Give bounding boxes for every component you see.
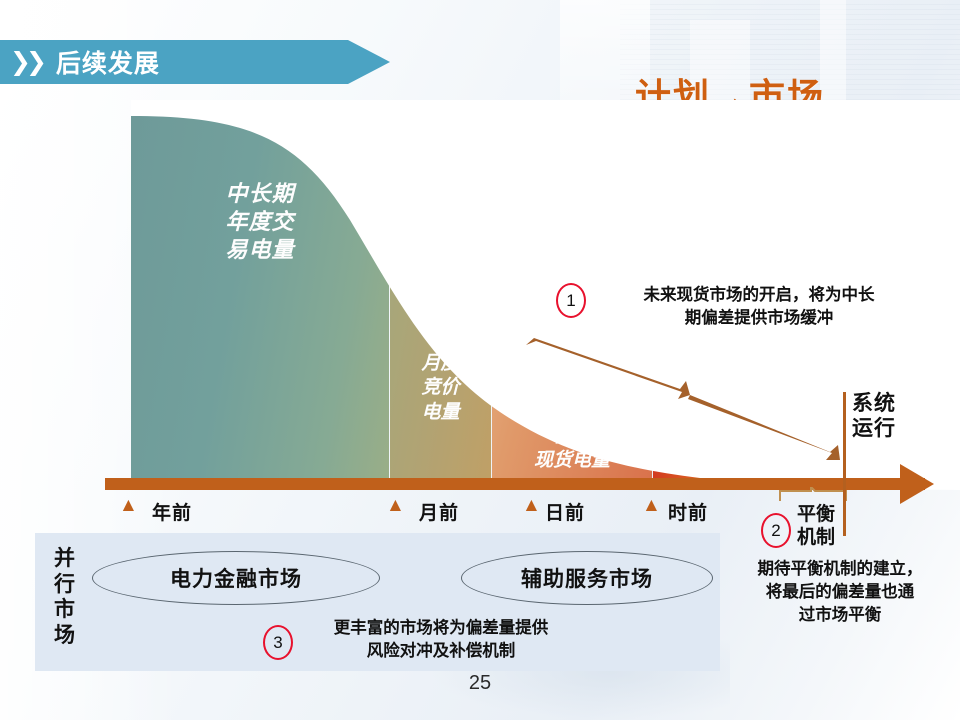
axis-tick-icon: ▲ xyxy=(119,496,138,515)
callout-2-text: 期待平衡机制的建立， 将最后的偏差量也通 过市场平衡 xyxy=(726,558,954,626)
axis-label-hour-ahead: 时前 xyxy=(668,498,708,525)
axis-label-month-ahead: 月前 xyxy=(419,498,459,525)
parallel-market-label: 并 行 市 场 xyxy=(50,546,80,648)
band-label-mid-long-term: 中长期 年度交 易电量 xyxy=(131,180,389,264)
band-mid-long-term: 中长期 年度交 易电量 xyxy=(131,116,389,490)
axis-tick-icon: ▲ xyxy=(386,496,405,515)
section-banner: ❯❯ 后续发展 xyxy=(0,40,390,84)
system-operation-label: 系统 运行 xyxy=(852,392,896,442)
bubble-power-financial-market[interactable]: 电力金融市场 xyxy=(92,551,380,605)
bubble-ancillary-service-market[interactable]: 辅助服务市场 xyxy=(461,551,713,605)
slide-canvas: ❯❯ 后续发展 计划→市场 未来，市场种类的完善、交易品种的增加将使得单纯的 行… xyxy=(0,0,960,720)
balance-mechanism-brace xyxy=(778,487,848,503)
callout-3-text: 更丰富的市场将为偏差量提供 风险对冲及补偿机制 xyxy=(296,617,586,663)
banner-label: 后续发展 xyxy=(56,44,160,80)
callout-2-badge[interactable]: 2 xyxy=(761,513,791,548)
axis-tick-icon: ▲ xyxy=(642,496,661,515)
axis-tick-icon: ▲ xyxy=(522,496,541,515)
band-label-real-time-spot: 实时现货电量 xyxy=(653,453,838,477)
callout-1-badge[interactable]: 1 xyxy=(556,283,586,318)
axis-label-day-ahead: 日前 xyxy=(545,498,585,525)
callout-1-text: 未来现货市场的开启，将为中长 期偏差提供市场缓冲 xyxy=(594,284,924,330)
axis-arrow-head-icon xyxy=(900,464,934,504)
band-label-monthly-bidding: 月度 竞价 电量 xyxy=(390,352,491,425)
balance-mechanism-label: 平衡 机制 xyxy=(789,503,843,549)
axis-label-year-ahead: 年前 xyxy=(152,498,192,525)
band-monthly-bidding: 月度 竞价 电量 xyxy=(390,235,491,490)
page-number: 25 xyxy=(0,672,960,695)
band-day-ahead-spot: 日前 现货电量 xyxy=(492,345,652,490)
band-label-day-ahead-spot: 日前 现货电量 xyxy=(492,425,652,474)
chevron-double-right-icon: ❯❯ xyxy=(10,50,42,75)
callout-3-badge[interactable]: 3 xyxy=(263,625,293,660)
system-operation-divider xyxy=(843,392,846,536)
